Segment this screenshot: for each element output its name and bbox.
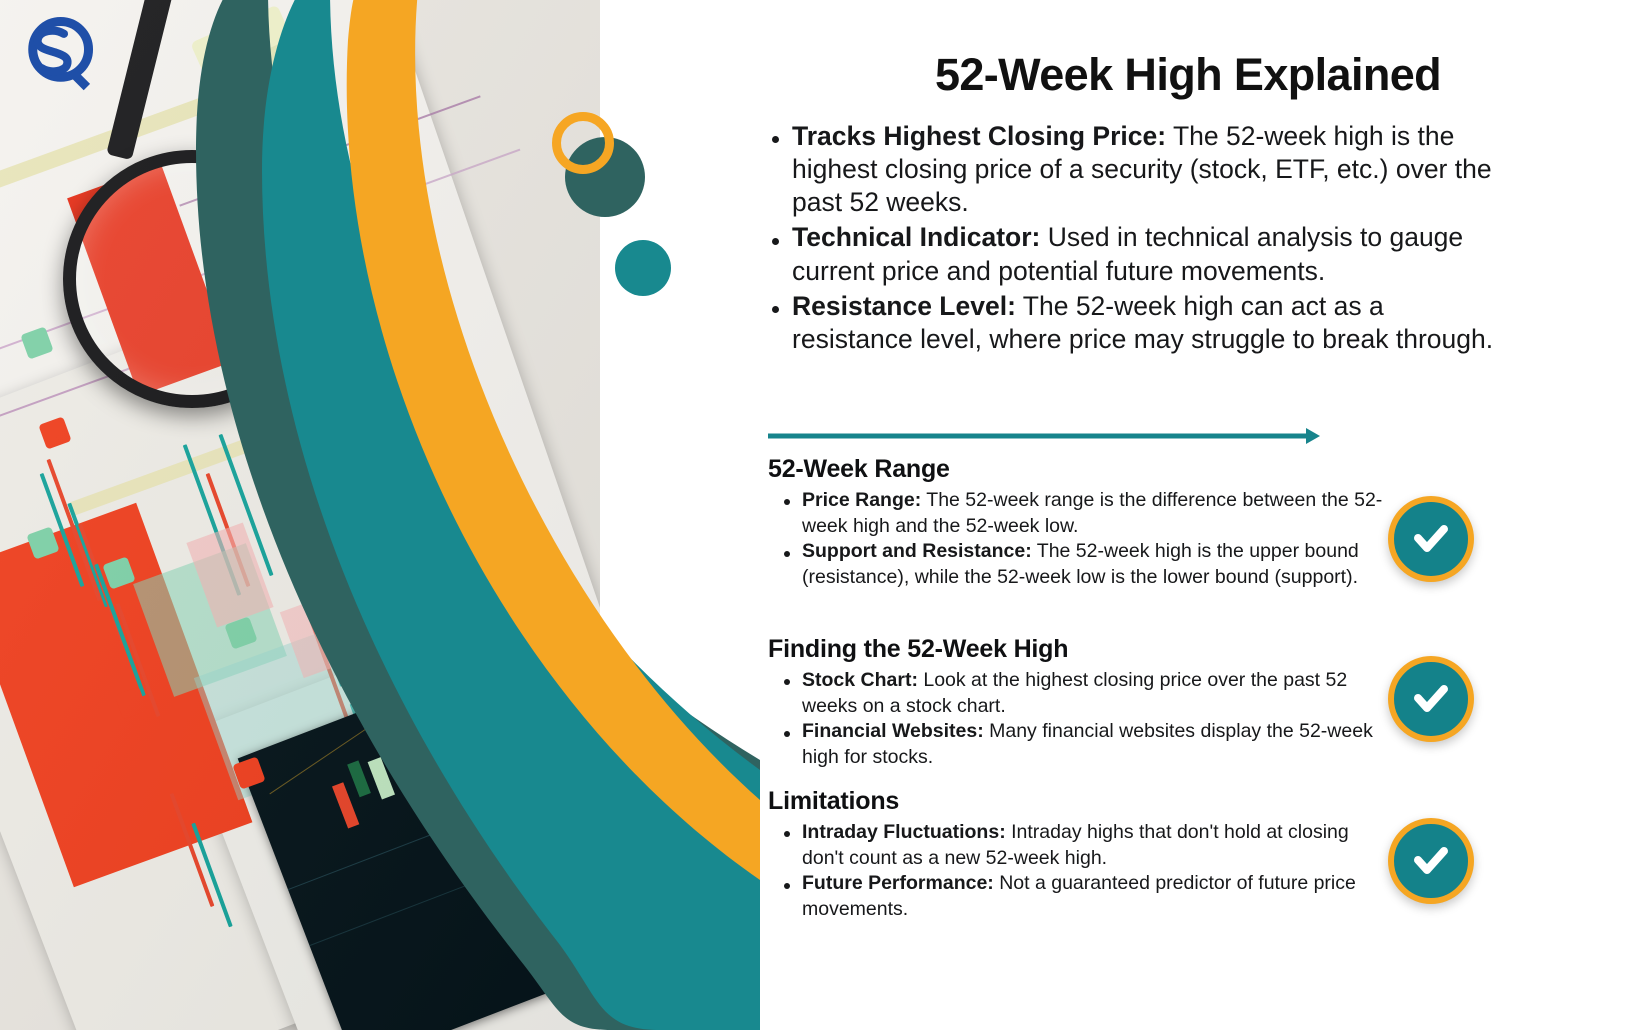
bullet-lead: Technical Indicator: — [792, 222, 1040, 252]
list-item: Stock Chart: Look at the highest closing… — [768, 668, 1388, 719]
section-heading: Finding the 52-Week High — [768, 635, 1388, 664]
check-badge-2 — [1388, 656, 1474, 742]
check-badge-1 — [1388, 496, 1474, 582]
bullet-lead: Resistance Level: — [792, 291, 1016, 321]
bullet-lead: Intraday Fluctuations: — [802, 821, 1006, 843]
bullet-lead: Price Range: — [802, 489, 921, 511]
sq-monogram-logo[interactable] — [18, 10, 100, 92]
page-title: 52-Week High Explained — [748, 50, 1628, 100]
intro-bullet-list: Tracks Highest Closing Price: The 52-wee… — [758, 120, 1498, 358]
section-heading: 52-Week Range — [768, 455, 1388, 484]
orange-ring-circle — [552, 112, 614, 174]
list-item: Price Range: The 52-week range is the di… — [768, 488, 1388, 539]
list-item: Financial Websites: Many financial websi… — [768, 719, 1388, 770]
teal-arrow-divider — [768, 425, 1320, 447]
bullet-lead: Support and Resistance: — [802, 540, 1032, 562]
list-item: Intraday Fluctuations: Intraday highs th… — [768, 820, 1388, 871]
check-badge-3 — [1388, 818, 1474, 904]
infographic-canvas: 52-Week High Explained Tracks Highest Cl… — [0, 0, 1640, 1030]
list-item: Future Performance: Not a guaranteed pre… — [768, 871, 1388, 922]
bullet-lead: Tracks Highest Closing Price: — [792, 121, 1166, 151]
wave-decoration — [0, 0, 760, 1030]
section-heading: Limitations — [768, 787, 1388, 816]
check-icon — [1408, 676, 1454, 722]
list-item: Resistance Level: The 52-week high can a… — [758, 290, 1498, 356]
content-panel: 52-Week High Explained Tracks Highest Cl… — [742, 0, 1640, 1030]
list-item: Support and Resistance: The 52-week high… — [768, 539, 1388, 590]
section-finding-52-week-high: Finding the 52-Week High Stock Chart: Lo… — [768, 635, 1388, 771]
bullet-lead: Stock Chart: — [802, 669, 918, 691]
check-icon — [1408, 516, 1454, 562]
section-52-week-range: 52-Week Range Price Range: The 52-week r… — [768, 455, 1388, 591]
bullet-lead: Financial Websites: — [802, 720, 984, 742]
check-icon — [1408, 838, 1454, 884]
bullet-lead: Future Performance: — [802, 872, 994, 894]
teal-circle — [615, 240, 671, 296]
section-limitations: Limitations Intraday Fluctuations: Intra… — [768, 787, 1388, 923]
list-item: Technical Indicator: Used in technical a… — [758, 221, 1498, 287]
list-item: Tracks Highest Closing Price: The 52-wee… — [758, 120, 1498, 219]
